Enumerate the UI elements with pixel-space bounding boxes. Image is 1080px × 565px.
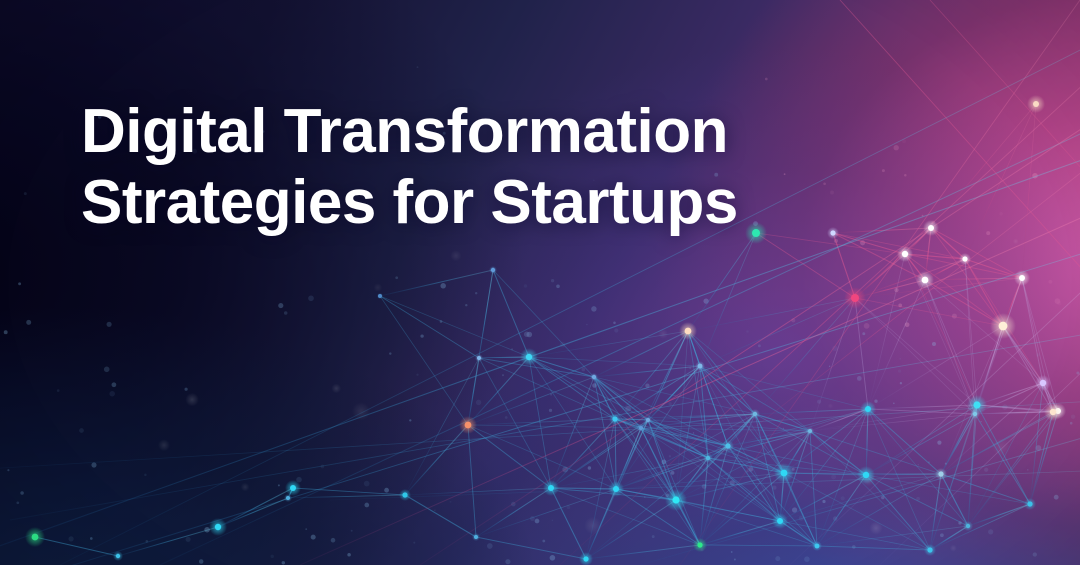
hero-banner: Digital Transformation Strategies for St… (0, 0, 1080, 565)
background-vignette (0, 0, 1080, 565)
page-title: Digital Transformation Strategies for St… (81, 96, 738, 238)
